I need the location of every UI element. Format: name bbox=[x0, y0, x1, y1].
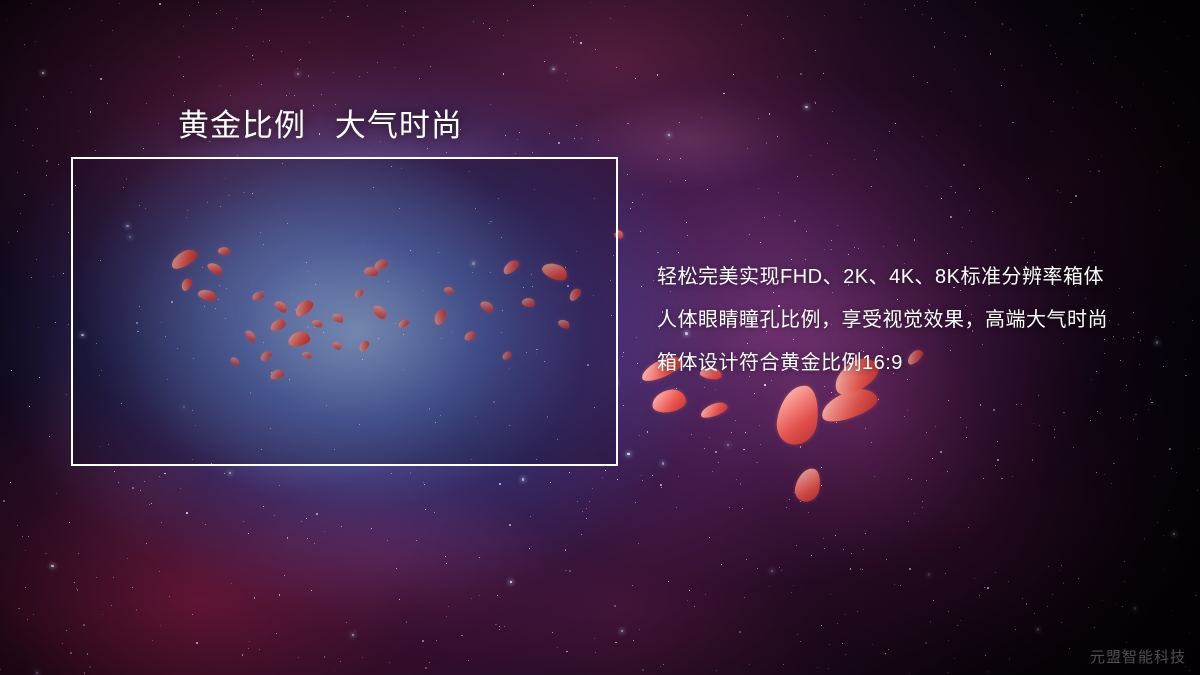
body-line-3: 箱体设计符合黄金比例16:9 bbox=[657, 342, 1157, 385]
body-line-2: 人体眼睛瞳孔比例，享受视觉效果，高端大气时尚 bbox=[657, 299, 1157, 342]
framed-nebula-background bbox=[73, 159, 616, 464]
framed-petals bbox=[73, 159, 616, 464]
body-line-1: 轻松完美实现FHD、2K、4K、8K标准分辨率箱体 bbox=[657, 256, 1157, 299]
body-text-block: 轻松完美实现FHD、2K、4K、8K标准分辨率箱体 人体眼睛瞳孔比例，享受视觉效… bbox=[657, 256, 1157, 385]
framed-nebula-art bbox=[73, 159, 616, 464]
slide-canvas: 黄金比例 大气时尚 轻松完美实现FHD、2K、4K、8K标准分辨率箱体 人体眼睛… bbox=[0, 0, 1200, 675]
framed-starfield bbox=[73, 159, 616, 464]
page-title: 黄金比例 大气时尚 bbox=[178, 100, 463, 145]
framed-preview-panel[interactable] bbox=[71, 157, 618, 466]
framed-preview-image bbox=[73, 159, 616, 464]
watermark-label: 元盟智能科技 bbox=[1090, 646, 1186, 667]
